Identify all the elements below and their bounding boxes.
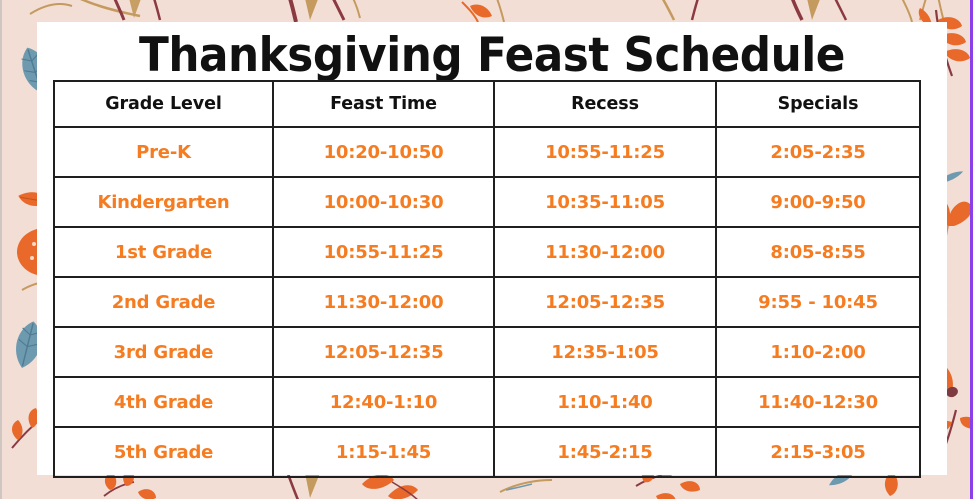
cell-recess: 10:55-11:25 — [494, 127, 716, 177]
cell-recess: 12:05-12:35 — [494, 277, 716, 327]
schedule-table: Grade Level Feast Time Recess Specials P… — [53, 80, 921, 478]
cell-specials: 11:40-12:30 — [716, 377, 920, 427]
cell-specials: 2:05-2:35 — [716, 127, 920, 177]
cell-specials: 2:15-3:05 — [716, 427, 920, 477]
table-row: Kindergarten 10:00-10:30 10:35-11:05 9:0… — [54, 177, 920, 227]
cell-grade: Kindergarten — [54, 177, 273, 227]
column-header-recess: Recess — [494, 81, 716, 127]
cell-feast: 10:20-10:50 — [273, 127, 494, 177]
top-border-sprigs — [70, 0, 944, 22]
column-header-feast-time: Feast Time — [273, 81, 494, 127]
column-header-specials: Specials — [716, 81, 920, 127]
cell-recess: 1:45-2:15 — [494, 427, 716, 477]
cell-specials: 9:00-9:50 — [716, 177, 920, 227]
thanksgiving-schedule-poster: Thanksgiving Feast Schedule Grade Level … — [0, 0, 973, 499]
cell-grade: 3rd Grade — [54, 327, 273, 377]
cell-feast: 1:15-1:45 — [273, 427, 494, 477]
content-card: Thanksgiving Feast Schedule Grade Level … — [37, 22, 947, 475]
cell-recess: 12:35-1:05 — [494, 327, 716, 377]
cell-grade: 4th Grade — [54, 377, 273, 427]
table-row: 3rd Grade 12:05-12:35 12:35-1:05 1:10-2:… — [54, 327, 920, 377]
table-row: Pre-K 10:20-10:50 10:55-11:25 2:05-2:35 — [54, 127, 920, 177]
cell-feast: 12:05-12:35 — [273, 327, 494, 377]
cell-grade: 5th Grade — [54, 427, 273, 477]
cell-grade: 1st Grade — [54, 227, 273, 277]
cell-feast: 10:00-10:30 — [273, 177, 494, 227]
cell-recess: 1:10-1:40 — [494, 377, 716, 427]
page-title: Thanksgiving Feast Schedule — [69, 28, 915, 83]
cell-feast: 11:30-12:00 — [273, 277, 494, 327]
cell-recess: 10:35-11:05 — [494, 177, 716, 227]
cell-grade: Pre-K — [54, 127, 273, 177]
table-row: 1st Grade 10:55-11:25 11:30-12:00 8:05-8… — [54, 227, 920, 277]
canvas-left-edge — [0, 0, 2, 499]
cell-grade: 2nd Grade — [54, 277, 273, 327]
cell-feast: 12:40-1:10 — [273, 377, 494, 427]
table-body: Pre-K 10:20-10:50 10:55-11:25 2:05-2:35 … — [54, 127, 920, 477]
table-row: 2nd Grade 11:30-12:00 12:05-12:35 9:55 -… — [54, 277, 920, 327]
cell-specials: 1:10-2:00 — [716, 327, 920, 377]
cell-specials: 9:55 - 10:45 — [716, 277, 920, 327]
table-row: 5th Grade 1:15-1:45 1:45-2:15 2:15-3:05 — [54, 427, 920, 477]
table-header: Grade Level Feast Time Recess Specials — [54, 81, 920, 127]
column-header-grade-level: Grade Level — [54, 81, 273, 127]
cell-feast: 10:55-11:25 — [273, 227, 494, 277]
cell-recess: 11:30-12:00 — [494, 227, 716, 277]
cell-specials: 8:05-8:55 — [716, 227, 920, 277]
table-header-row: Grade Level Feast Time Recess Specials — [54, 81, 920, 127]
table-row: 4th Grade 12:40-1:10 1:10-1:40 11:40-12:… — [54, 377, 920, 427]
